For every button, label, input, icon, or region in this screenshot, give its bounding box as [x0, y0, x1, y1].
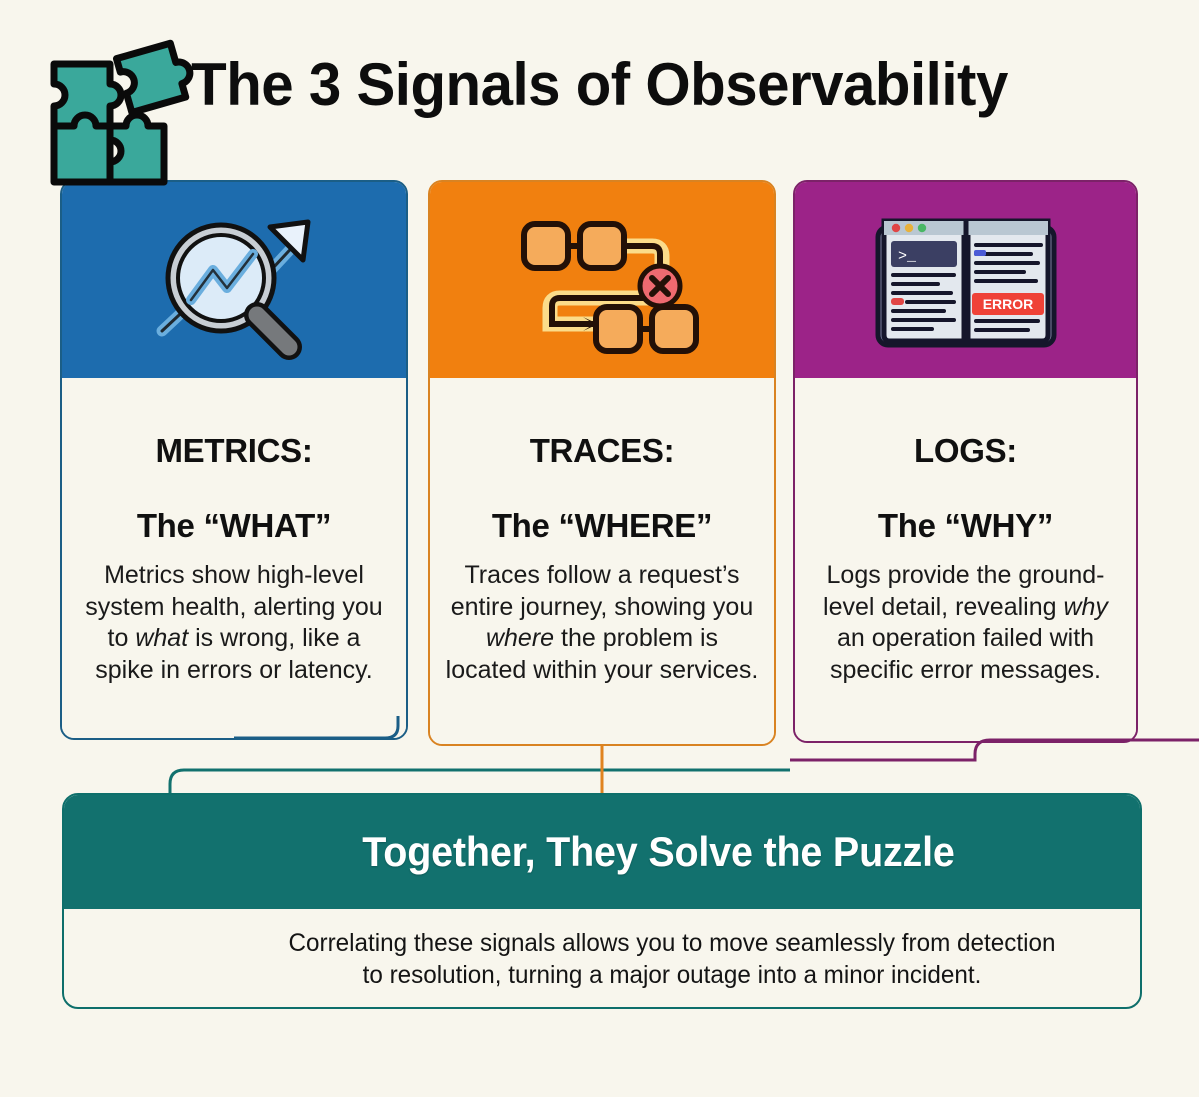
card-logs-desc-emphasis: why — [1063, 593, 1107, 621]
magnifier-trend-icon — [129, 200, 339, 360]
card-metrics-description: Metrics show high-level system health, a… — [76, 560, 392, 686]
card-metrics-title-line1: METRICS: — [155, 432, 312, 469]
card-logs-body: LOGS: The “WHY” Logs provide the ground-… — [795, 378, 1136, 741]
card-logs-header: >_ — [795, 182, 1136, 378]
card-logs-title: LOGS: The “WHY” — [809, 394, 1122, 544]
card-metrics-title-line2: The “WHAT” — [137, 507, 331, 544]
card-metrics-body: METRICS: The “WHAT” Metrics show high-le… — [62, 378, 406, 738]
panel-description: Correlating these signals allows you to … — [276, 927, 1068, 992]
card-traces-header — [430, 182, 774, 378]
card-traces-desc-part1: Traces follow a request’s entire journey… — [451, 561, 754, 621]
card-traces-title: TRACES: The “WHERE” — [444, 394, 760, 544]
card-traces-title-line1: TRACES: — [530, 432, 675, 469]
infographic-root: The 3 Signals of Observability — [0, 0, 1199, 1097]
panel-body: Correlating these signals allows you to … — [64, 909, 1140, 1009]
error-badge-label: ERROR — [982, 296, 1033, 312]
card-traces-body: TRACES: The “WHERE” Traces follow a requ… — [430, 378, 774, 744]
terminal-prompt-text: >_ — [898, 248, 917, 265]
puzzle-pieces-icon — [38, 22, 218, 202]
card-traces-title-line2: The “WHERE” — [492, 507, 712, 544]
trace-graph-error-icon — [502, 198, 702, 363]
card-traces-description: Traces follow a request’s entire journey… — [444, 560, 760, 686]
panel-title: Together, They Solve the Puzzle — [249, 828, 954, 876]
panel-together: Together, They Solve the Puzzle Correlat… — [62, 793, 1142, 1009]
card-metrics-title: METRICS: The “WHAT” — [76, 394, 392, 544]
panel-header: Together, They Solve the Puzzle — [64, 795, 1140, 909]
open-log-book-icon: >_ — [866, 205, 1066, 355]
card-logs-desc-part2: an operation failed with specific error … — [830, 624, 1101, 684]
card-logs-title-line2: The “WHY” — [878, 507, 1053, 544]
card-traces: TRACES: The “WHERE” Traces follow a requ… — [428, 180, 776, 746]
card-metrics: METRICS: The “WHAT” Metrics show high-le… — [60, 180, 408, 740]
card-metrics-desc-emphasis: what — [135, 624, 188, 652]
card-logs: >_ — [793, 180, 1138, 743]
card-traces-desc-emphasis: where — [486, 624, 554, 652]
card-logs-title-line1: LOGS: — [914, 432, 1017, 469]
card-metrics-header — [62, 182, 406, 378]
card-logs-description: Logs provide the ground-level detail, re… — [809, 560, 1122, 686]
